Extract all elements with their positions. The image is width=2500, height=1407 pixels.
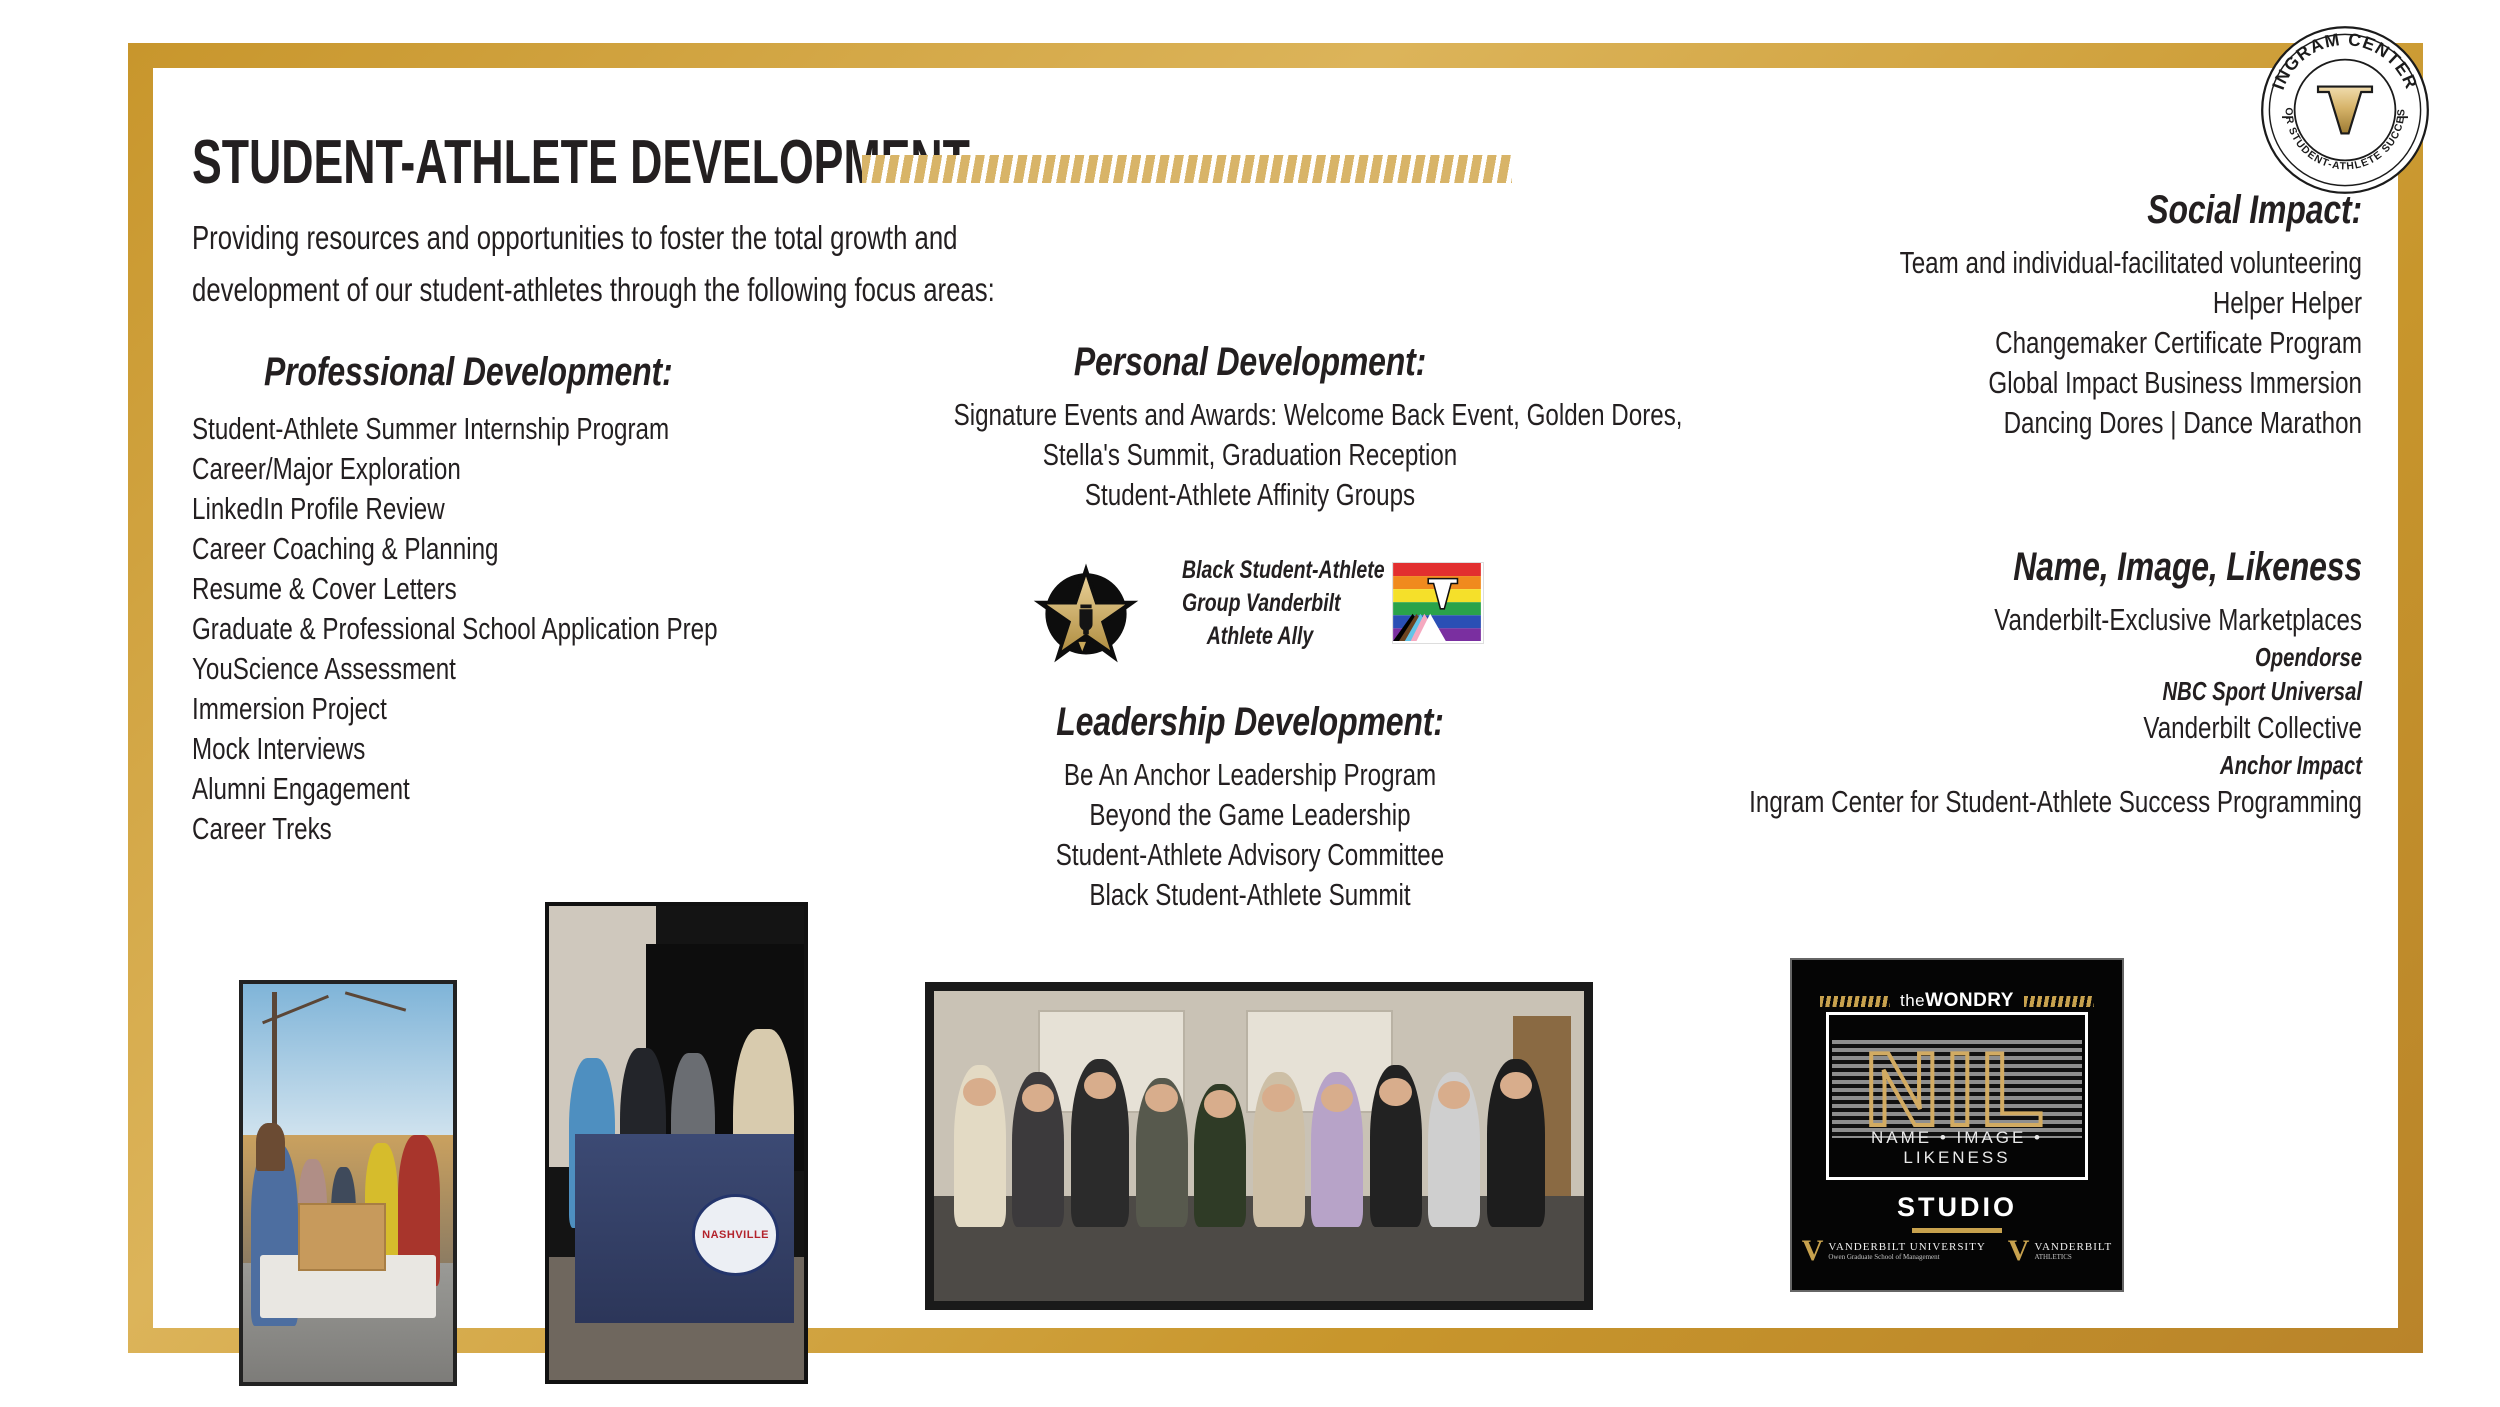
list-item: Changemaker Certificate Program [1691, 323, 2362, 363]
nil-studio-label: STUDIO [1792, 1192, 2122, 1223]
list-item: Mock Interviews [192, 729, 754, 769]
list-item: Immersion Project [192, 689, 754, 729]
name-image-likeness-list: Vanderbilt-Exclusive Marketplaces Opendo… [1462, 600, 2362, 822]
affinity-item: Athlete Ally [1182, 620, 1338, 653]
list-item: Career/Major Exploration [192, 449, 754, 489]
list-item: Student-Athlete Summer Internship Progra… [192, 409, 754, 449]
social-impact-heading: Social Impact: [1674, 188, 2362, 233]
list-item: Be An Anchor Leadership Program [954, 755, 1547, 795]
personal-development-heading: Personal Development: [946, 340, 1554, 385]
affinity-item: Group Vanderbilt [1182, 587, 1338, 620]
affinity-group-names: Black Student-Athlete Group Vanderbilt A… [1160, 554, 1360, 653]
photo-career-fair-nashville-booth: NASHVILLE [545, 902, 808, 1384]
logo-line-1: VANDERBILT [2034, 1241, 2112, 1253]
hatch-decoration-left [1820, 996, 1890, 1007]
list-item: Ingram Center for Student-Athlete Succes… [1660, 782, 2362, 822]
subtitle-line-1: Providing resources and opportunities to… [192, 212, 894, 264]
photo-students-outdoor-table-event [239, 980, 457, 1386]
list-item: Stella's Summit, Graduation Reception [954, 435, 1547, 475]
name-image-likeness-section: Name, Image, Likeness Vanderbilt-Exclusi… [1462, 545, 2362, 822]
list-item: Vanderbilt Collective [1660, 708, 2362, 748]
wondry-name: WONDRY [1925, 990, 2014, 1011]
list-item: Student-Athlete Advisory Committee [954, 835, 1547, 875]
affinity-item: Black Student-Athlete [1182, 554, 1338, 587]
list-item: Alumni Engagement [192, 769, 754, 809]
vanderbilt-owen-logo: V VANDERBILT UNIVERSITY Owen Graduate Sc… [1802, 1236, 1986, 1266]
page-subtitle: Providing resources and opportunities to… [192, 212, 1092, 316]
vanderbilt-v-icon: V [1802, 1236, 1824, 1266]
nil-subtitle: NAME • IMAGE • LIKENESS [1826, 1128, 2088, 1168]
list-item: Career Treks [192, 809, 754, 849]
ingram-center-seal-icon: INGRAM CENTER FOR STUDENT-ATHLETE SUCCES… [2255, 20, 2435, 200]
subtitle-line-2: development of our student-athletes thro… [192, 264, 894, 316]
list-item: Global Impact Business Immersion [1691, 363, 2362, 403]
name-image-likeness-heading: Name, Image, Likeness [1642, 545, 2362, 590]
black-student-athlete-star-icon [1030, 556, 1142, 668]
wondry-brand-row: theWONDRY [1792, 990, 2122, 1012]
list-item: YouScience Assessment [192, 649, 754, 689]
social-impact-section: Social Impact: Team and individual-facil… [1502, 188, 2362, 443]
social-impact-list: Team and individual-facilitated voluntee… [1502, 243, 2362, 443]
list-item: Signature Events and Awards: Welcome Bac… [954, 395, 1547, 435]
list-item: Team and individual-facilitated voluntee… [1691, 243, 2362, 283]
list-item: Career Coaching & Planning [192, 529, 754, 569]
affinity-groups-row: Black Student-Athlete Group Vanderbilt A… [1010, 552, 1470, 672]
photo-student-athlete-group [925, 982, 1593, 1310]
hatch-decoration-right [2024, 996, 2094, 1007]
wondry-brand: theWONDRY [1900, 990, 2014, 1012]
professional-development-list: Student-Athlete Summer Internship Progra… [192, 409, 912, 849]
logo-line-2: ATHLETICS [2034, 1253, 2112, 1261]
list-item: Graduate & Professional School Applicati… [192, 609, 754, 649]
list-item: Student-Athlete Affinity Groups [954, 475, 1547, 515]
nil-underline [1912, 1228, 2002, 1233]
logo-line-1: VANDERBILT UNIVERSITY [1828, 1241, 1985, 1253]
professional-development-heading: Professional Development: [264, 350, 840, 395]
vanderbilt-athletics-logo: V VANDERBILT ATHLETICS [2008, 1236, 2113, 1266]
nil-studio-card: theWONDRY NIL NAME • IMAGE • LIKENESS ST… [1790, 958, 2124, 1292]
wondry-the: the [1900, 991, 1925, 1010]
list-item: Anchor Impact [1660, 748, 2362, 782]
logo-line-2: Owen Graduate School of Management [1828, 1253, 1985, 1261]
vanderbilt-v-icon: V [2008, 1236, 2030, 1266]
list-item: Vanderbilt-Exclusive Marketplaces [1660, 600, 2362, 640]
list-item: Black Student-Athlete Summit [954, 875, 1547, 915]
list-item: Opendorse [1660, 640, 2362, 674]
list-item: Resume & Cover Letters [192, 569, 754, 609]
nil-frame: NIL NAME • IMAGE • LIKENESS [1826, 1012, 2088, 1180]
nashville-logo-label: NASHVILLE [692, 1194, 780, 1276]
list-item: Helper Helper [1691, 283, 2362, 323]
list-item: LinkedIn Profile Review [192, 489, 754, 529]
professional-development-section: Professional Development: Student-Athlet… [192, 350, 912, 849]
list-item: Dancing Dores | Dance Marathon [1691, 403, 2362, 443]
list-item: Beyond the Game Leadership [954, 795, 1547, 835]
nil-partner-logos: V VANDERBILT UNIVERSITY Owen Graduate Sc… [1792, 1236, 2122, 1266]
list-item: NBC Sport Universal [1660, 674, 2362, 708]
title-hatch-decoration [862, 155, 1512, 183]
page-title: STUDENT-ATHLETE DEVELOPMENT [192, 132, 970, 194]
